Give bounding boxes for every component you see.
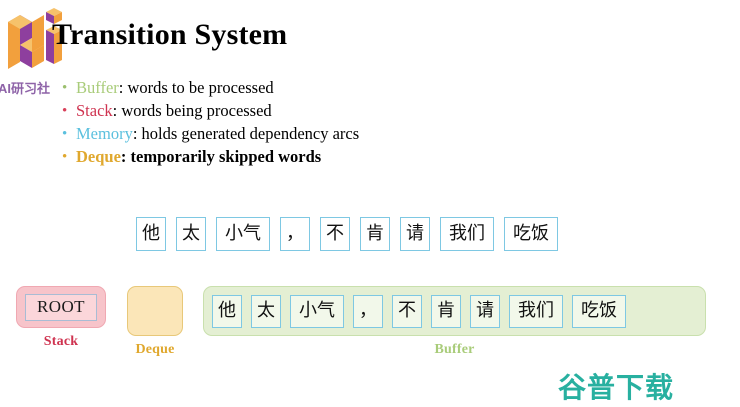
stack-label: Stack [16, 334, 106, 350]
buffer-item: 请 [470, 295, 500, 328]
token-box: ， [280, 217, 310, 251]
deque-structure: Deque [127, 286, 183, 358]
buffer-item: ， [353, 295, 383, 328]
stack-structure: ROOT Stack [16, 286, 106, 350]
bullet-dot-icon: • [62, 127, 76, 142]
definition-list: • Buffer : words to be processed • Stack… [62, 78, 532, 170]
list-item-deque: • Deque : temporarily skipped words [62, 147, 532, 170]
list-item-buffer: • Buffer : words to be processed [62, 78, 532, 101]
definition-buffer: : words to be processed [119, 78, 274, 98]
buffer-structure: 他 太 小气 ， 不 肯 请 我们 吃饭 Buffer [203, 286, 706, 358]
buffer-item: 吃饭 [572, 295, 626, 328]
token-box: 他 [136, 217, 166, 251]
term-deque: Deque [76, 147, 121, 167]
bullet-dot-icon: • [62, 150, 76, 165]
buffer-item: 我们 [509, 295, 563, 328]
list-item-stack: • Stack : words being processed [62, 101, 532, 124]
token-box: 太 [176, 217, 206, 251]
term-memory: Memory [76, 124, 133, 144]
buffer-item: 他 [212, 295, 242, 328]
buffer-item: 小气 [290, 295, 344, 328]
term-stack: Stack [76, 101, 113, 121]
list-item-memory: • Memory : holds generated dependency ar… [62, 124, 532, 147]
definition-memory: : holds generated dependency arcs [133, 124, 359, 144]
token-box: 请 [400, 217, 430, 251]
buffer-item: 太 [251, 295, 281, 328]
token-box: 肯 [360, 217, 390, 251]
buffer-item: 肯 [431, 295, 461, 328]
token-box: 不 [320, 217, 350, 251]
bullet-dot-icon: • [62, 104, 76, 119]
definition-stack: : words being processed [113, 101, 272, 121]
token-box: 我们 [440, 217, 494, 251]
page-title: Transition System [52, 18, 287, 52]
definition-deque: : temporarily skipped words [121, 147, 321, 167]
token-box: 小气 [216, 217, 270, 251]
deque-label: Deque [127, 342, 183, 358]
stack-container: ROOT [16, 286, 106, 328]
stack-item-root: ROOT [25, 294, 97, 321]
bullet-dot-icon: • [62, 81, 76, 96]
buffer-item: 不 [392, 295, 422, 328]
transition-state-row: ROOT Stack Deque 他 太 小气 ， 不 肯 请 我们 吃饭 Bu… [0, 286, 740, 376]
brand-caption: AI研习社 [0, 78, 50, 97]
buffer-label: Buffer [203, 342, 706, 358]
sentence-token-row: 他 太 小气 ， 不 肯 请 我们 吃饭 [136, 217, 558, 251]
deque-container [127, 286, 183, 336]
term-buffer: Buffer [76, 78, 119, 98]
token-box: 吃饭 [504, 217, 558, 251]
watermark: 谷普下载 [558, 366, 674, 406]
buffer-container: 他 太 小气 ， 不 肯 请 我们 吃饭 [203, 286, 706, 336]
